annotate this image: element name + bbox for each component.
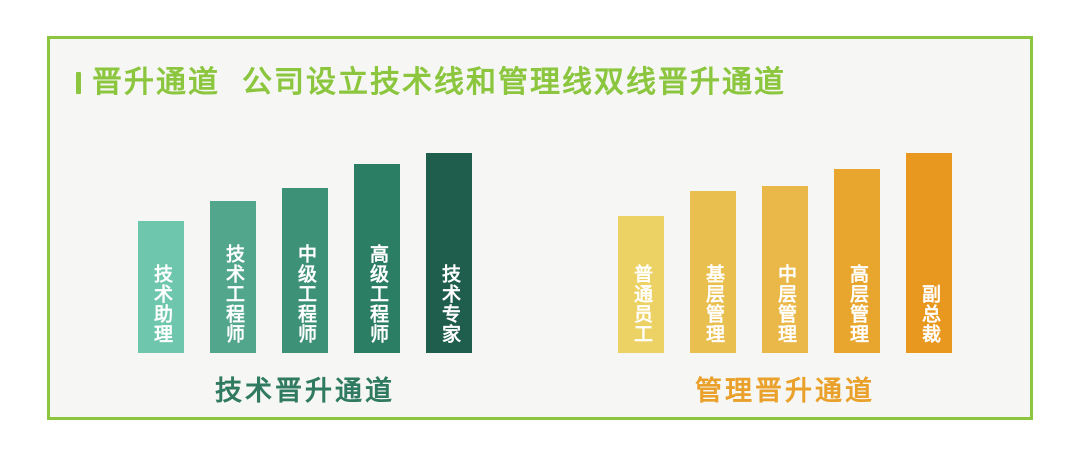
bar-label: 高级工程师 [366, 244, 388, 353]
promotion-chart: 技术助理 技术工程师 中级工程师 高级工程师 技术专家 技术晋升通道 [50, 39, 1030, 417]
bar-mgmt-3: 中层管理 [762, 186, 808, 353]
group-caption-technical: 技术晋升通道 [105, 378, 505, 405]
bar-label: 基层管理 [702, 264, 724, 353]
bar-mgmt-5: 副总裁 [906, 153, 952, 353]
bar-label: 普通员工 [630, 264, 652, 353]
bar-tech-3: 中级工程师 [282, 188, 328, 353]
bar-tech-2: 技术工程师 [210, 201, 256, 353]
bar-tech-4: 高级工程师 [354, 164, 400, 353]
bar-tech-1: 技术助理 [138, 221, 184, 353]
bar-label: 中层管理 [774, 264, 796, 353]
bar-tech-5: 技术专家 [426, 153, 472, 353]
chart-group-management: 普通员工 基层管理 中层管理 高层管理 副总裁 管理晋升通道 [585, 119, 985, 409]
bar-label: 技术专家 [438, 264, 460, 353]
bar-label: 副总裁 [918, 284, 940, 353]
bar-label: 技术助理 [150, 264, 172, 353]
bar-series-technical: 技术助理 技术工程师 中级工程师 高级工程师 技术专家 [105, 133, 505, 353]
bar-label: 中级工程师 [294, 244, 316, 353]
bar-mgmt-2: 基层管理 [690, 191, 736, 353]
group-caption-management: 管理晋升通道 [585, 378, 985, 405]
bar-series-management: 普通员工 基层管理 中层管理 高层管理 副总裁 [585, 133, 985, 353]
chart-group-technical: 技术助理 技术工程师 中级工程师 高级工程师 技术专家 技术晋升通道 [105, 119, 505, 409]
bar-label: 技术工程师 [222, 244, 244, 353]
promotion-path-card: 晋升通道 公司设立技术线和管理线双线晋升通道 技术助理 技术工程师 中级工程师 … [47, 36, 1033, 420]
bar-label: 高层管理 [846, 264, 868, 353]
bar-mgmt-1: 普通员工 [618, 216, 664, 353]
bar-mgmt-4: 高层管理 [834, 169, 880, 353]
